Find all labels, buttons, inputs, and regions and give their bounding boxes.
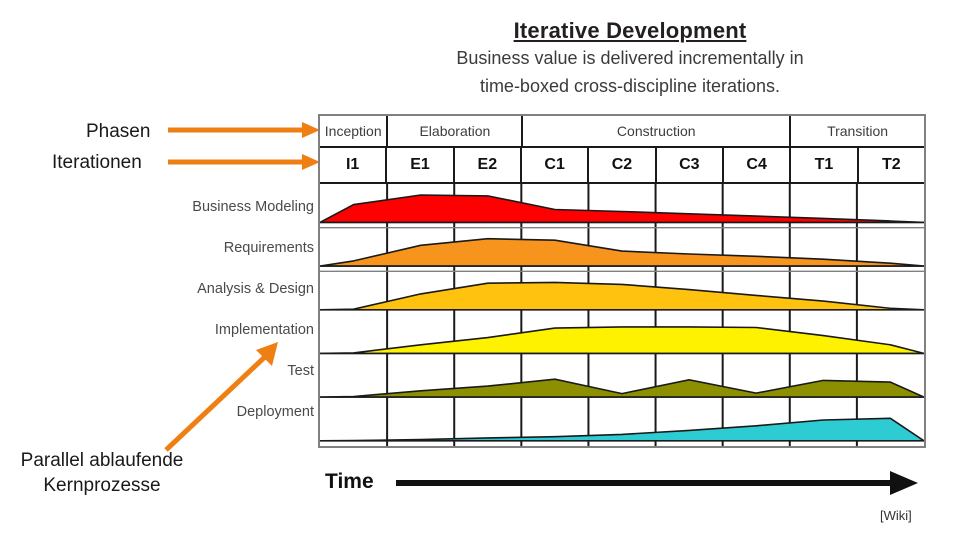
time-axis-label: Time (325, 470, 374, 494)
annotation-kernprozesse-line-2: Kernprozesse (4, 474, 200, 499)
subtitle-line-2: time-boxed cross-discipline iterations. (330, 75, 930, 98)
workflow-hump-deployment (320, 418, 924, 441)
iteration-cell-c1: C1 (522, 148, 589, 182)
time-arrow-icon (396, 470, 918, 496)
workflow-hump-test (320, 379, 924, 397)
iterationen-arrow-icon (168, 152, 320, 172)
discipline-label-requirements: Requirements (150, 227, 318, 268)
iteration-cell-e1: E1 (387, 148, 454, 182)
phase-cell-elaboration: Elaboration (388, 116, 523, 146)
iteration-cell-e2: E2 (455, 148, 522, 182)
phase-cell-inception: Inception (320, 116, 388, 146)
title-block: Iterative Development Business value is … (330, 18, 930, 98)
phase-cell-transition: Transition (791, 116, 924, 146)
workflow-plot-area (320, 184, 924, 446)
phase-header-row: InceptionElaborationConstructionTransiti… (320, 116, 924, 148)
iteration-cell-t2: T2 (859, 148, 924, 182)
iteration-header-row: I1E1E2C1C2C3C4T1T2 (320, 148, 924, 184)
workflow-hump-analysis-design (320, 282, 924, 309)
annotation-kernprozesse: Parallel ablaufende Kernprozesse (4, 449, 200, 498)
annotation-iterationen: Iterationen (52, 152, 142, 174)
workflow-humps-svg (320, 184, 924, 446)
iteration-chart: InceptionElaborationConstructionTransiti… (318, 114, 926, 448)
workflow-hump-implementation (320, 327, 924, 354)
workflow-hump-requirements (320, 239, 924, 266)
phasen-arrow-icon (168, 120, 320, 140)
iteration-cell-i1: I1 (320, 148, 387, 182)
subtitle-line-1: Business value is delivered incrementall… (330, 47, 930, 70)
annotation-phasen: Phasen (86, 121, 150, 143)
discipline-label-list: Business Modeling Requirements Analysis … (150, 186, 318, 432)
workflow-hump-business-modeling (320, 195, 924, 222)
phase-cell-construction: Construction (523, 116, 791, 146)
iteration-cell-c3: C3 (657, 148, 724, 182)
iteration-cell-t1: T1 (791, 148, 858, 182)
discipline-label-deployment: Deployment (150, 391, 318, 432)
diagram-stage: Iterative Development Business value is … (0, 0, 957, 549)
discipline-label-analysis-design: Analysis & Design (150, 268, 318, 309)
page-title: Iterative Development (330, 18, 930, 43)
iteration-cell-c2: C2 (589, 148, 656, 182)
source-credit: [Wiki] (880, 508, 912, 523)
discipline-label-business-modeling: Business Modeling (150, 186, 318, 227)
iteration-cell-c4: C4 (724, 148, 791, 182)
discipline-label-test: Test (150, 350, 318, 391)
discipline-label-implementation: Implementation (150, 309, 318, 350)
